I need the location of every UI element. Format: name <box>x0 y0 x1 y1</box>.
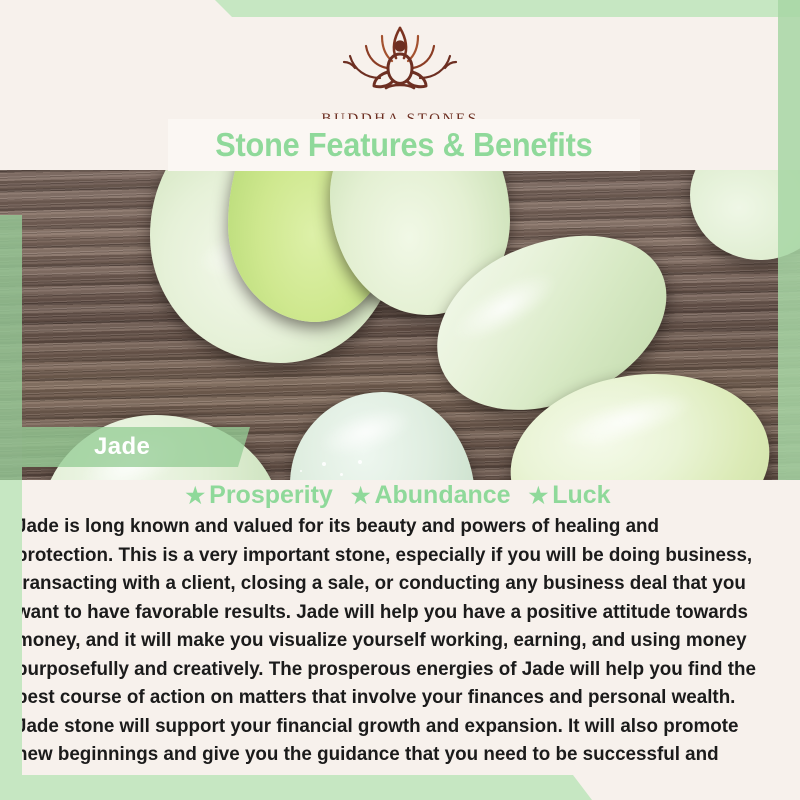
keyword-abundance: Abundance <box>374 481 510 509</box>
keyword-luck: Luck <box>552 481 610 509</box>
description-section: ★Prosperity ★Abundance ★Luck Jade is lon… <box>0 480 800 800</box>
title-banner: Stone Features & Benefits <box>168 119 640 171</box>
left-green-accent-bar-lower <box>0 480 22 780</box>
stone-name-label: Jade <box>22 427 250 467</box>
lotus-meditation-icon <box>330 22 470 105</box>
star-icon: ★ <box>528 483 548 508</box>
stone-name-text: Jade <box>94 433 150 461</box>
description-paragraph: Jade is long known and valued for its be… <box>16 512 761 797</box>
keyword-row: ★Prosperity ★Abundance ★Luck <box>0 481 800 510</box>
keyword-prosperity: Prosperity <box>209 481 333 509</box>
page-title: Stone Features & Benefits <box>215 126 592 164</box>
bottom-green-accent-band <box>0 775 600 800</box>
star-icon: ★ <box>185 483 205 508</box>
left-green-accent-bar <box>0 215 22 505</box>
poster-root: BUDDHA STONES Stone Features & Benefits … <box>0 0 800 800</box>
star-icon: ★ <box>351 483 371 508</box>
